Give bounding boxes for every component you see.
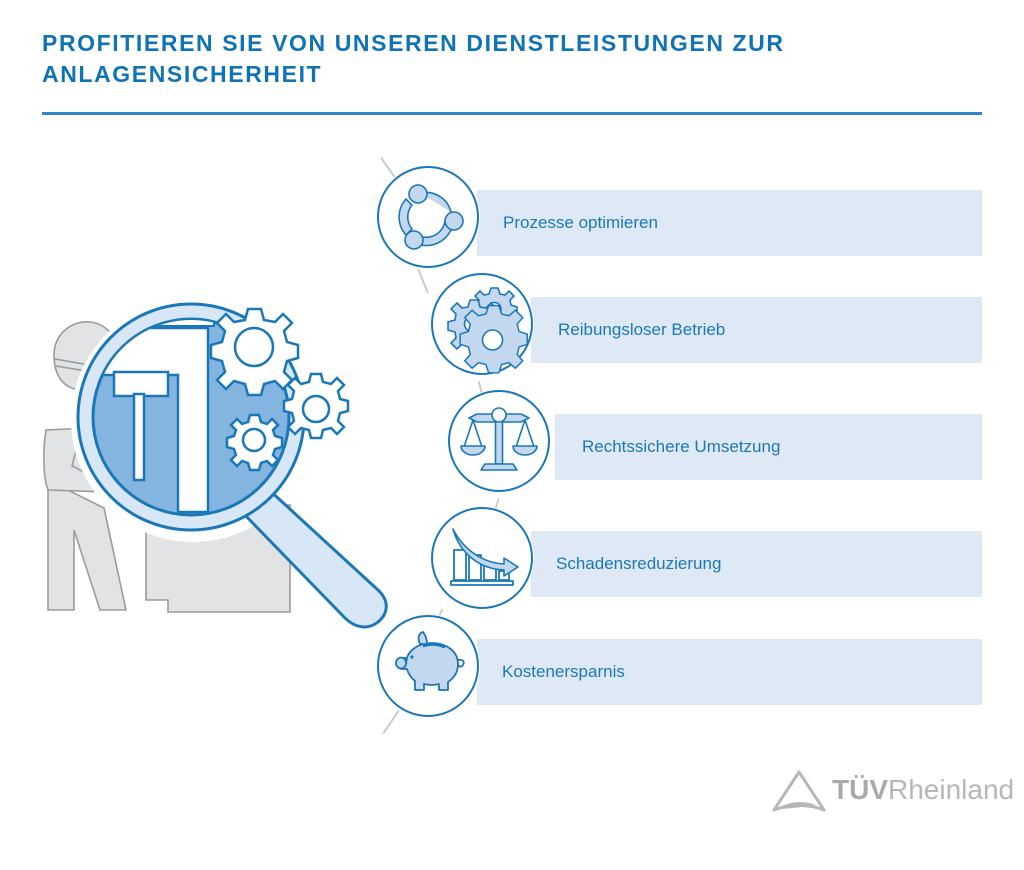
benefit-row-2[interactable]: Reibungsloser Betrieb [0, 297, 1024, 363]
benefit-row-1[interactable]: Prozesse optimieren [0, 190, 1024, 256]
process-cycle-icon[interactable] [376, 165, 480, 269]
benefit-row-3[interactable]: Rechtssichere Umsetzung [0, 414, 1024, 480]
logo-tuv-text: TÜV [832, 774, 888, 805]
benefit-label: Rechtssichere Umsetzung [582, 414, 780, 480]
logo-rheinland-text: Rheinland [888, 774, 1014, 805]
benefit-label: Prozesse optimieren [503, 190, 658, 256]
benefit-label: Kostenersparnis [502, 639, 625, 705]
piggy-bank-icon[interactable] [376, 614, 480, 718]
gears-icon[interactable] [430, 272, 534, 376]
benefits-list: Prozesse optimieren Reibungsloser Betrie… [0, 0, 1024, 870]
scales-icon[interactable] [447, 389, 551, 493]
benefit-row-5[interactable]: Kostenersparnis [0, 639, 1024, 705]
benefit-label: Schadensreduzierung [556, 531, 721, 597]
benefit-label: Reibungsloser Betrieb [558, 297, 725, 363]
connector-dash-1 [417, 269, 429, 294]
tuv-triangle-mark [770, 768, 828, 816]
benefit-row-4[interactable]: Schadensreduzierung [0, 531, 1024, 597]
logo-wordmark: TÜVRheinland [832, 774, 1014, 806]
declining-bar-chart-icon[interactable] [430, 506, 534, 610]
tuv-rheinland-logo: TÜVRheinland [770, 768, 982, 820]
